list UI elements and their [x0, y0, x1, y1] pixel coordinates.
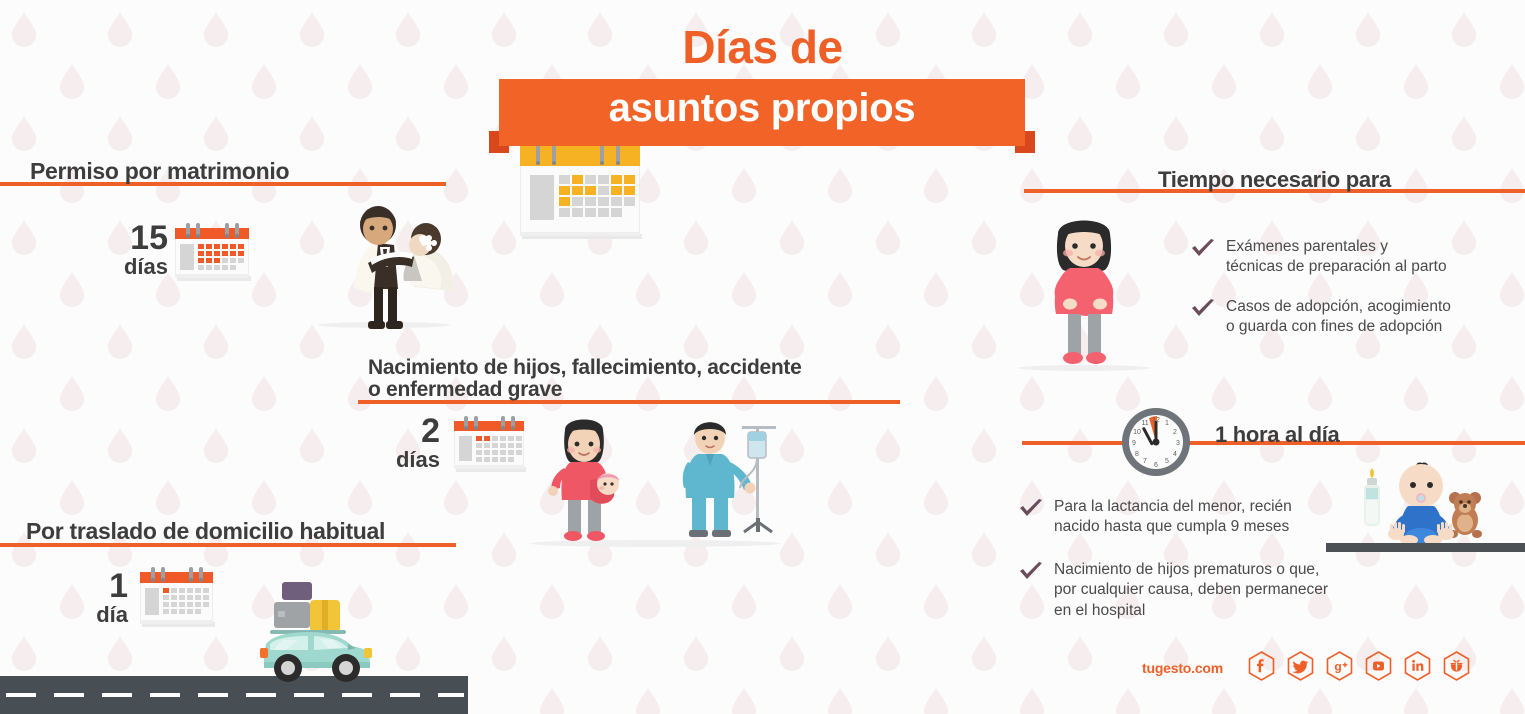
social-icon-linkedin[interactable]: [1404, 651, 1431, 681]
svg-text:4: 4: [1173, 451, 1177, 458]
social-icon-youtube[interactable]: [1365, 651, 1392, 681]
check-icon: [1190, 239, 1216, 261]
clock-icon: 1212 345 678 91011: [1119, 405, 1193, 479]
svg-text:3: 3: [1176, 440, 1180, 447]
traslado-amount-unit: día: [72, 602, 128, 627]
nacimiento-amount-unit: días: [380, 447, 440, 472]
baby-bottle-teddy-illustration: [1355, 462, 1487, 548]
mother-baby-nurse-illustration: [540, 418, 790, 546]
bride-groom-illustration: [310, 195, 470, 335]
infographic-canvas: Días de asuntos propios Permiso por matr…: [0, 0, 1525, 714]
nacimiento-amount: 2 días: [380, 415, 440, 473]
matrimonio-amount-unit: días: [100, 254, 168, 279]
svg-text:g: g: [1334, 660, 1341, 674]
section-title-nacimiento-line1: Nacimiento de hijos, fallecimiento, acci…: [368, 357, 801, 379]
svg-text:6: 6: [1154, 462, 1158, 469]
section-title-matrimonio: Permiso por matrimonio: [30, 159, 289, 183]
check-icon: [1018, 562, 1044, 584]
page-title-line1: Días de: [0, 20, 1525, 74]
section-title-nacimiento-line2: o enfermedad grave: [368, 379, 562, 401]
page-title-line2: asuntos propios: [489, 86, 1035, 131]
calendar-15-dias: [175, 228, 249, 278]
title-calendar-icon: [520, 146, 640, 236]
svg-text:9: 9: [1132, 440, 1136, 447]
calendar-2-dias: [454, 421, 524, 469]
svg-text:5: 5: [1165, 458, 1169, 465]
car-luggage-road-illustration: [248, 582, 376, 692]
traslado-amount: 1 día: [72, 570, 128, 628]
svg-text:10: 10: [1133, 429, 1141, 436]
svg-text:11: 11: [1141, 420, 1148, 427]
pregnant-woman-illustration: [1040, 216, 1128, 368]
check-item-tiempo-2-text: Casos de adopción, acogimiento o guarda …: [1226, 297, 1451, 338]
calendar-1-dia: [140, 572, 213, 624]
matrimonio-amount-value: 15: [100, 222, 168, 254]
svg-text:7: 7: [1143, 458, 1147, 465]
section-title-tiempo-necesario: Tiempo necesario para: [1024, 168, 1525, 191]
section-title-traslado: Por traslado de domicilio habitual: [26, 519, 385, 543]
brand-label: tugesto.com: [1142, 660, 1223, 676]
check-icon: [1190, 299, 1216, 321]
check-item-hora-1-text: Para la lactancia del menor, recién naci…: [1054, 497, 1292, 538]
baby-shelf: [1326, 543, 1525, 552]
social-icon-google-plus[interactable]: g: [1326, 651, 1353, 681]
traslado-amount-value: 1: [72, 570, 128, 602]
nacimiento-amount-value: 2: [380, 415, 440, 447]
check-icon: [1018, 499, 1044, 521]
social-icon-facebook[interactable]: [1248, 651, 1275, 681]
matrimonio-amount: 15 días: [100, 222, 168, 280]
social-icon-dribbble[interactable]: [1443, 651, 1470, 681]
svg-text:8: 8: [1135, 451, 1139, 458]
road-strip: [0, 676, 468, 714]
check-item-tiempo-1-text: Exámenes parentales y técnicas de prepar…: [1226, 237, 1447, 278]
svg-text:2: 2: [1173, 429, 1177, 436]
section-title-hora-al-dia: 1 hora al día: [1215, 423, 1339, 446]
check-item-hora-2-text: Nacimiento de hijos prematuros o que, po…: [1054, 560, 1328, 621]
svg-text:1: 1: [1165, 420, 1169, 427]
social-links: g: [1248, 651, 1470, 681]
social-icon-twitter[interactable]: [1287, 651, 1314, 681]
